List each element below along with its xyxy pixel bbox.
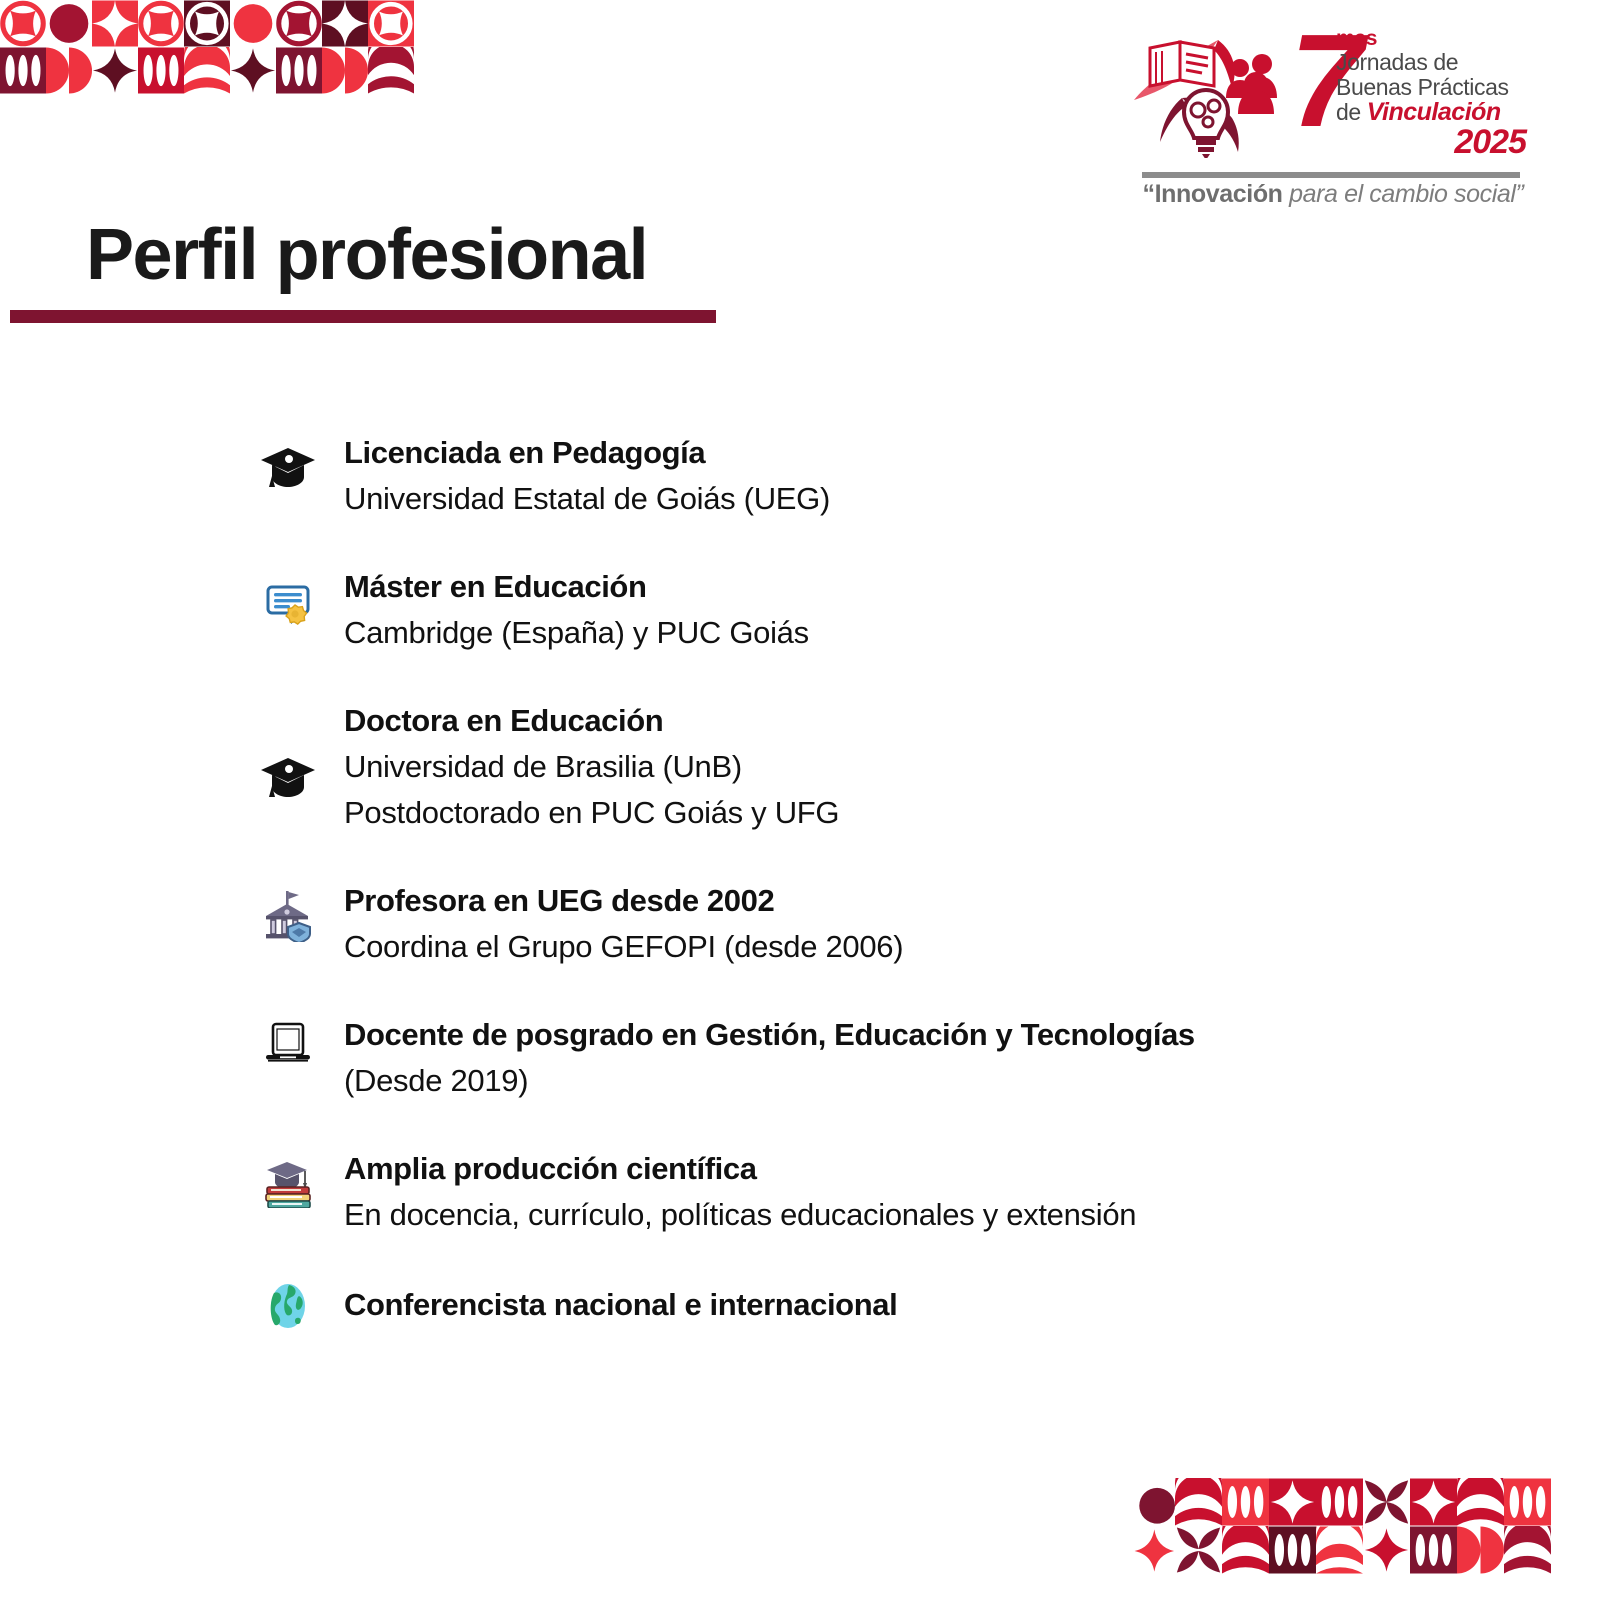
- laptop-icon: [232, 1012, 344, 1066]
- list-item-line: En docencia, currículo, políticas educac…: [344, 1192, 1502, 1238]
- pattern-tile: [1410, 1526, 1457, 1574]
- pattern-tile: [1128, 1478, 1175, 1526]
- pattern-tile: [1175, 1478, 1222, 1526]
- pattern-tile: [1504, 1478, 1551, 1526]
- list-item: Máster en Educación Cambridge (España) y…: [232, 564, 1502, 656]
- pattern-tile: [0, 0, 46, 47]
- pattern-tile: [276, 0, 322, 47]
- geometric-pattern-top-left: [0, 0, 460, 94]
- list-item-line: (Desde 2019): [344, 1058, 1502, 1104]
- list-item-line: Postdoctorado en PUC Goiás y UFG: [344, 790, 1502, 836]
- pattern-tile: [414, 0, 460, 47]
- list-item-title: Conferencista nacional e internacional: [344, 1282, 1502, 1326]
- pattern-tile: [138, 47, 184, 94]
- graduation-cap-icon: [232, 698, 344, 800]
- pattern-tile: [1363, 1478, 1410, 1526]
- title-underline: [10, 310, 716, 323]
- logo-tagline: “Innovación para el cambio social”: [1140, 180, 1526, 209]
- list-item-line: Universidad de Brasilia (UnB): [344, 744, 1502, 790]
- globe-icon: [232, 1282, 344, 1330]
- pattern-tile: [0, 47, 46, 94]
- pattern-tile: [1410, 1478, 1457, 1526]
- logo-line-1: Jornadas de: [1336, 50, 1526, 75]
- list-item-title: Amplia producción científica: [344, 1146, 1502, 1192]
- pattern-tile: [1457, 1526, 1504, 1574]
- logo-tagline-bold: “Innovación: [1143, 180, 1283, 208]
- logo-tagline-rest: para el cambio social”: [1283, 180, 1524, 208]
- list-item-text: Doctora en Educación Universidad de Bras…: [344, 698, 1502, 836]
- event-logo: 7 mas Jornadas de Buenas Prácticas de Vi…: [1122, 22, 1522, 194]
- list-item-line: Coordina el Grupo GEFOPI (desde 2006): [344, 924, 1502, 970]
- pattern-tile: [1222, 1478, 1269, 1526]
- pattern-tile: [276, 47, 322, 94]
- pattern-tile: [92, 0, 138, 47]
- logo-line-3: de Vinculación: [1336, 100, 1526, 125]
- graduation-cap-icon: [232, 430, 344, 490]
- pattern-tile: [1222, 1526, 1269, 1574]
- list-item-title: Máster en Educación: [344, 564, 1502, 610]
- pattern-tile: [230, 47, 276, 94]
- list-item-title: Profesora en UEG desde 2002: [344, 878, 1502, 924]
- list-item: Licenciada en Pedagogía Universidad Esta…: [232, 430, 1502, 522]
- logo-year: 2025: [1336, 125, 1526, 159]
- pattern-tile: [230, 0, 276, 47]
- pattern-tile: [184, 47, 230, 94]
- profile-list: Licenciada en Pedagogía Universidad Esta…: [232, 430, 1502, 1330]
- pattern-tile: [92, 47, 138, 94]
- list-item-title: Doctora en Educación: [344, 698, 1502, 744]
- list-item-text: Docente de posgrado en Gestión, Educació…: [344, 1012, 1502, 1104]
- list-item-title: Docente de posgrado en Gestión, Educació…: [344, 1012, 1502, 1058]
- pattern-tile: [1269, 1478, 1316, 1526]
- geometric-pattern-bottom-right: [1128, 1478, 1598, 1574]
- pattern-tile: [1269, 1526, 1316, 1574]
- logo-text-block: mas Jornadas de Buenas Prácticas de Vinc…: [1336, 28, 1526, 159]
- books-graduation-icon: [232, 1146, 344, 1208]
- university-building-icon: [232, 878, 344, 942]
- list-item: Amplia producción científica En docencia…: [232, 1146, 1502, 1238]
- pattern-tile: [322, 0, 368, 47]
- pattern-tile: [1363, 1526, 1410, 1574]
- list-item: Docente de posgrado en Gestión, Educació…: [232, 1012, 1502, 1104]
- pattern-tile: [368, 0, 414, 47]
- list-item-text: Profesora en UEG desde 2002 Coordina el …: [344, 878, 1502, 970]
- pattern-tile: [322, 47, 368, 94]
- page-title: Perfil profesional: [86, 214, 647, 296]
- list-item: Doctora en Educación Universidad de Bras…: [232, 698, 1502, 836]
- logo-line-2: Buenas Prácticas: [1336, 75, 1526, 100]
- pattern-tile: [1551, 1526, 1598, 1574]
- pattern-tile: [1551, 1478, 1598, 1526]
- list-item: Conferencista nacional e internacional: [232, 1282, 1502, 1330]
- logo-de: de: [1336, 99, 1361, 125]
- pattern-tile: [1175, 1526, 1222, 1574]
- pattern-tile: [368, 47, 414, 94]
- pattern-tile: [184, 0, 230, 47]
- list-item-line: Cambridge (España) y PUC Goiás: [344, 610, 1502, 656]
- pattern-tile: [138, 0, 184, 47]
- logo-divider: [1142, 172, 1520, 178]
- pattern-tile: [46, 47, 92, 94]
- pattern-tile: [1316, 1526, 1363, 1574]
- list-item-text: Conferencista nacional e internacional: [344, 1282, 1502, 1326]
- pattern-tile: [1316, 1478, 1363, 1526]
- logo-superscript: mas: [1336, 28, 1526, 50]
- list-item-text: Amplia producción científica En docencia…: [344, 1146, 1502, 1238]
- pattern-tile: [1457, 1478, 1504, 1526]
- list-item: Profesora en UEG desde 2002 Coordina el …: [232, 878, 1502, 970]
- logo-vinculacion: Vinculación: [1367, 98, 1501, 126]
- logo-mark-icon: [1122, 26, 1300, 158]
- pattern-tile: [1128, 1526, 1175, 1574]
- pattern-tile: [1504, 1526, 1551, 1574]
- list-item-title: Licenciada en Pedagogía: [344, 430, 1502, 476]
- pattern-tile: [414, 47, 460, 94]
- list-item-text: Licenciada en Pedagogía Universidad Esta…: [344, 430, 1502, 522]
- list-item-line: Universidad Estatal de Goiás (UEG): [344, 476, 1502, 522]
- pattern-tile: [46, 0, 92, 47]
- diploma-certificate-icon: [232, 564, 344, 626]
- list-item-text: Máster en Educación Cambridge (España) y…: [344, 564, 1502, 656]
